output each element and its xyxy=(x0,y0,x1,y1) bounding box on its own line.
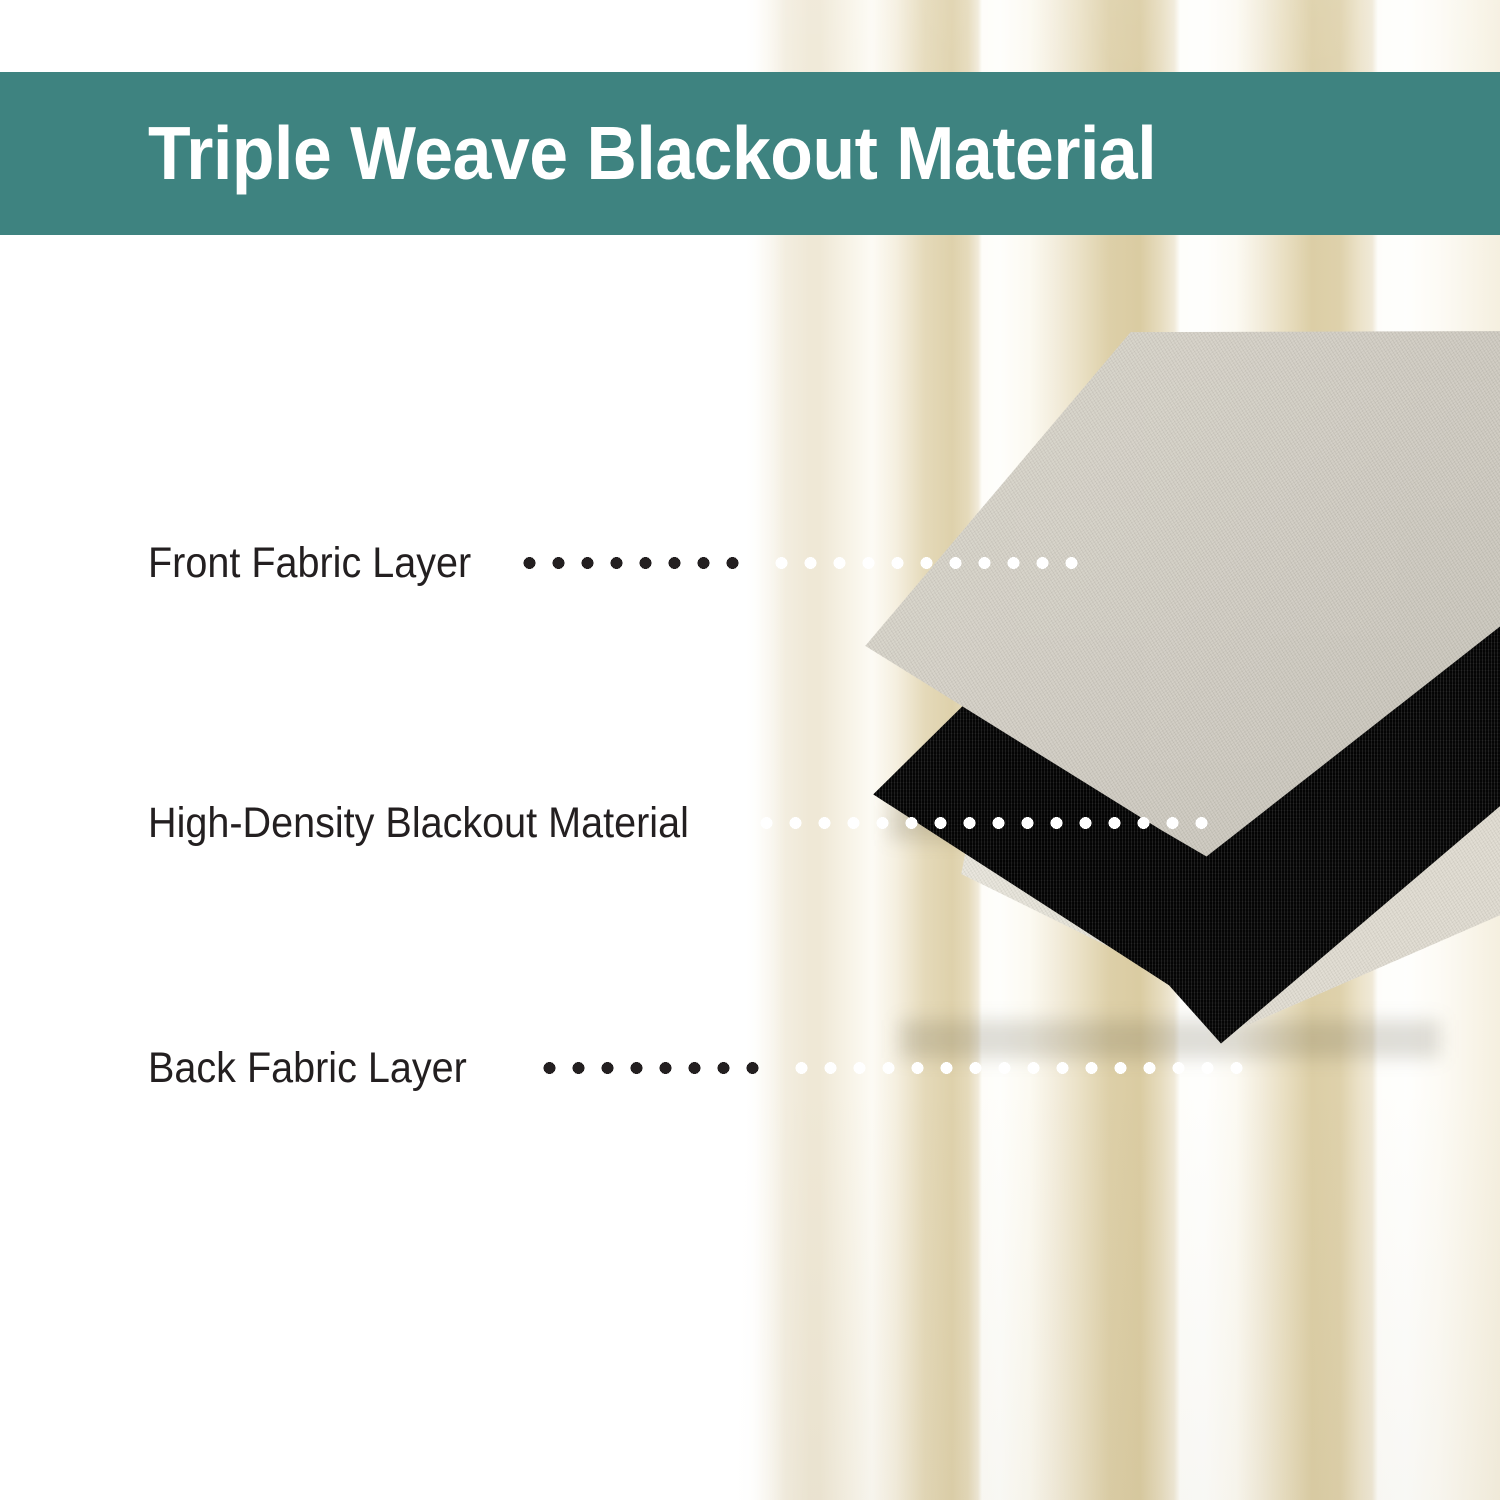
product-infographic: Triple Weave Blackout Material Front Fab… xyxy=(0,0,1500,1500)
fabric-layer-stack xyxy=(860,330,1500,1160)
callout-back-fabric-layer: Back Fabric Layer xyxy=(148,1038,511,1098)
page-title: Triple Weave Blackout Material xyxy=(148,116,1156,191)
swatch-contact-shadow-lower xyxy=(900,1020,1440,1058)
callout-label: Back Fabric Layer xyxy=(148,1047,467,1090)
callout-high-density-blackout-material: High-Density Blackout Material xyxy=(148,793,752,853)
leader-dots-dark xyxy=(515,557,753,569)
callout-label: High-Density Blackout Material xyxy=(148,802,689,845)
callout-label: Front Fabric Layer xyxy=(148,542,471,585)
leader-dots-dark xyxy=(535,1062,773,1074)
leader-dots-light xyxy=(787,1062,1247,1074)
leader-dots-light xyxy=(752,817,1212,829)
leader-dots-light xyxy=(767,557,1087,569)
callout-front-fabric-layer: Front Fabric Layer xyxy=(148,533,515,593)
header-banner: Triple Weave Blackout Material xyxy=(0,72,1500,235)
